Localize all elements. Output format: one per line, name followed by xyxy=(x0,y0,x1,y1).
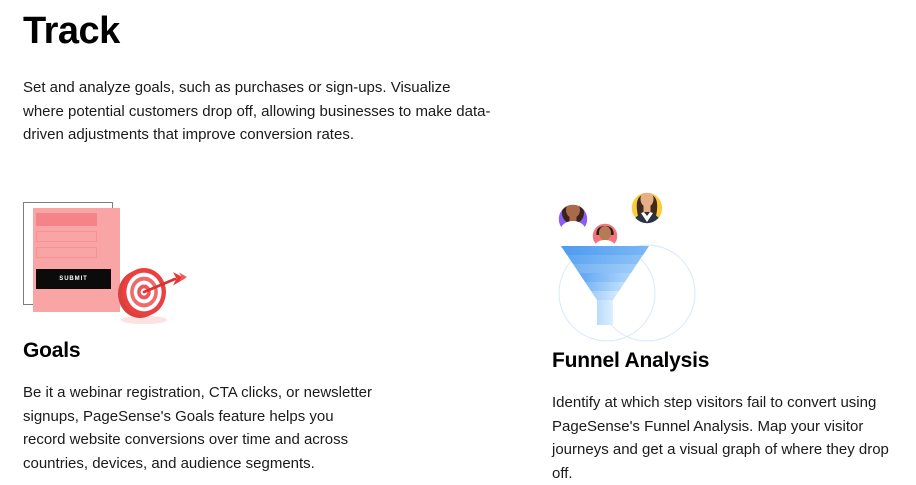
funnel-analysis-text-block: Funnel Analysis Identify at which step v… xyxy=(552,348,904,485)
funnel-analysis-description: Identify at which step visitors fail to … xyxy=(552,391,904,485)
track-intro-section: Track Set and analyze goals, such as pur… xyxy=(23,8,493,147)
target-dartboard-icon xyxy=(113,260,188,325)
goals-illustration: SUBMIT xyxy=(23,190,188,335)
avatar-visitor-left xyxy=(558,202,588,236)
funnel-analysis-title: Funnel Analysis xyxy=(552,348,904,374)
page-title: Track xyxy=(23,8,493,54)
goals-description: Be it a webinar registration, CTA clicks… xyxy=(23,381,375,475)
page-description: Set and analyze goals, such as purchases… xyxy=(23,76,493,147)
goals-form-submit-button: SUBMIT xyxy=(36,269,111,289)
avatar-visitor-right xyxy=(631,191,663,228)
goals-form-field-empty-1 xyxy=(36,231,97,242)
funnel-shape xyxy=(561,246,649,325)
goals-title: Goals xyxy=(23,338,375,364)
funnel-analysis-illustration xyxy=(552,188,702,338)
goals-text-block: Goals Be it a webinar registration, CTA … xyxy=(23,338,375,475)
goals-form-field-empty-2 xyxy=(36,247,97,258)
goals-form-field-filled xyxy=(36,213,97,226)
